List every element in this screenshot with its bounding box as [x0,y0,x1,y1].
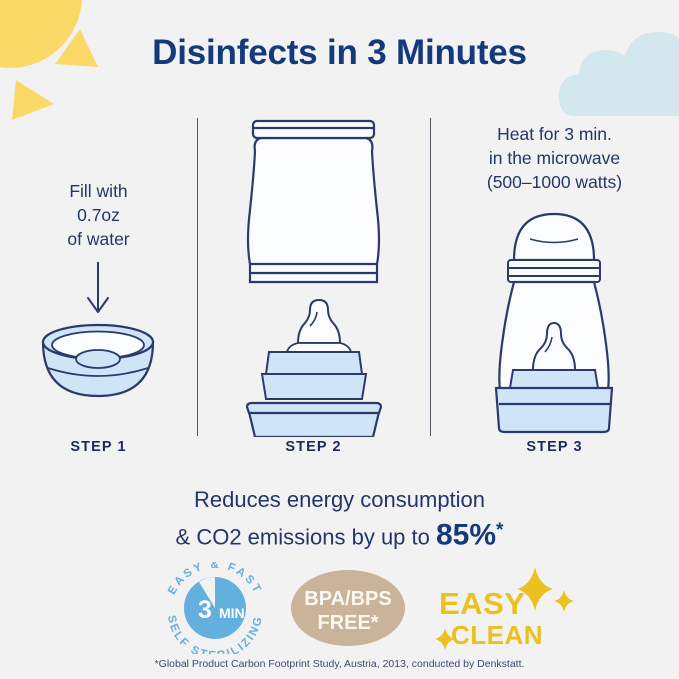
claim-line-2-prefix: & CO2 emissions by up to [176,524,436,549]
down-arrow-icon [88,262,108,312]
collar-ring-icon [262,352,366,399]
teat-icon [287,300,351,352]
step-1-caption: Fill with 0.7oz of water [0,179,197,251]
steps-section: Fill with 0.7oz of water [0,112,679,457]
page-title: Disinfects in 3 Minutes [0,33,679,73]
step-3-caption-line-2: in the microwave [430,146,679,170]
bottle-neck-icon [508,260,600,282]
footnote: *Global Product Carbon Footprint Study, … [0,658,679,670]
step-column-1: Fill with 0.7oz of water [0,112,197,457]
badge-3min-unit: MIN [219,605,245,621]
badge-3min-number: 3 [198,596,212,624]
badge-bpa-line-1: BPA/BPS [304,588,391,610]
badge-easy-clean-line-2: CLEAN [451,620,543,650]
bottle-body-icon [248,121,379,282]
badges-row: EASY & FAST SELF STERILIZING 3 MIN BPA/B… [0,562,679,654]
step-column-3: Heat for 3 min. in the microwave (500–10… [430,112,679,457]
collar-ring-icon [510,370,598,388]
claim-percent-asterisk: * [496,520,503,541]
infographic-canvas: Disinfects in 3 Minutes Fill with 0.7oz … [0,0,679,679]
step-3-illustration [430,192,679,437]
badge-easy-clean-line-1: EASY [439,586,525,621]
step-1-illustration [0,262,197,432]
energy-claim: Reduces energy consumption & CO2 emissio… [0,484,679,552]
badge-easy-clean: EASY CLEAN [425,562,585,654]
bottle-cap-icon [514,214,594,260]
step-1-caption-line-3: of water [0,227,197,251]
step-3-label: STEP 3 [430,439,679,455]
claim-percent: 85% [436,518,496,551]
bottle-base-icon [496,388,612,432]
step-3-caption: Heat for 3 min. in the microwave (500–10… [430,122,679,194]
badge-bpa-bps-free: BPA/BPS FREE* [288,562,408,654]
bottle-base-icon [247,403,381,437]
step-1-caption-line-2: 0.7oz [0,203,197,227]
badge-bpa-line-2: FREE* [317,612,378,634]
claim-line-2: & CO2 emissions by up to 85%* [0,515,679,552]
badge-3min: EASY & FAST SELF STERILIZING 3 MIN [155,562,275,654]
step-column-2: STEP 2 [197,112,430,457]
claim-line-1: Reduces energy consumption [0,484,679,515]
step-2-illustration [197,112,430,437]
step-3-caption-line-1: Heat for 3 min. [430,122,679,146]
step-2-label: STEP 2 [197,439,430,455]
step-3-caption-line-3: (500–1000 watts) [430,170,679,194]
step-1-label: STEP 1 [0,439,197,455]
bowl-icon [43,325,153,396]
step-1-caption-line-1: Fill with [0,179,197,203]
